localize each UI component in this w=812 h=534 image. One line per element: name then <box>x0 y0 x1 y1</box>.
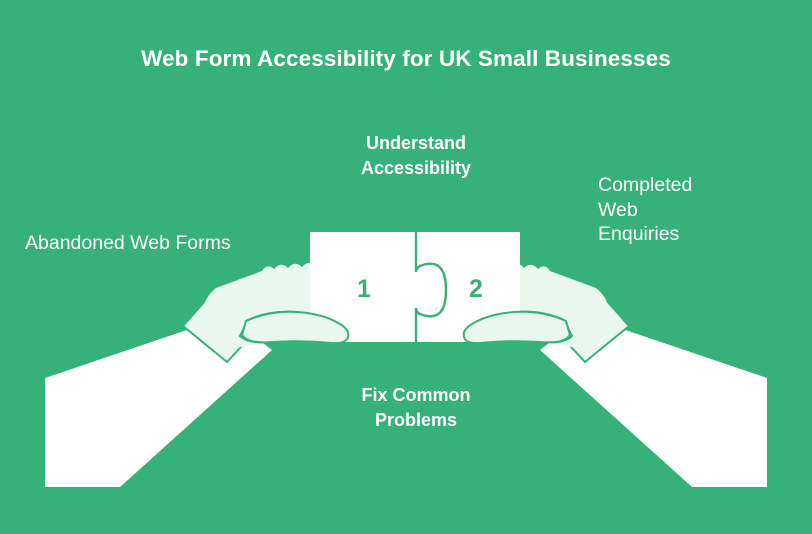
infographic-canvas: Web Form Accessibility for UK Small Busi… <box>0 0 812 534</box>
puzzle-piece-one-number: 1 <box>350 275 378 304</box>
label-abandoned-web-forms: Abandoned Web Forms <box>25 230 325 256</box>
illustration-artwork <box>0 0 812 534</box>
label-understand-accessibility: Understand Accessibility <box>296 131 536 181</box>
page-title: Web Form Accessibility for UK Small Busi… <box>0 46 812 72</box>
puzzle-piece-two-number: 2 <box>462 275 490 304</box>
label-completed-web-enquiries: Completed Web Enquiries <box>598 173 798 247</box>
label-fix-common-problems: Fix Common Problems <box>296 383 536 433</box>
